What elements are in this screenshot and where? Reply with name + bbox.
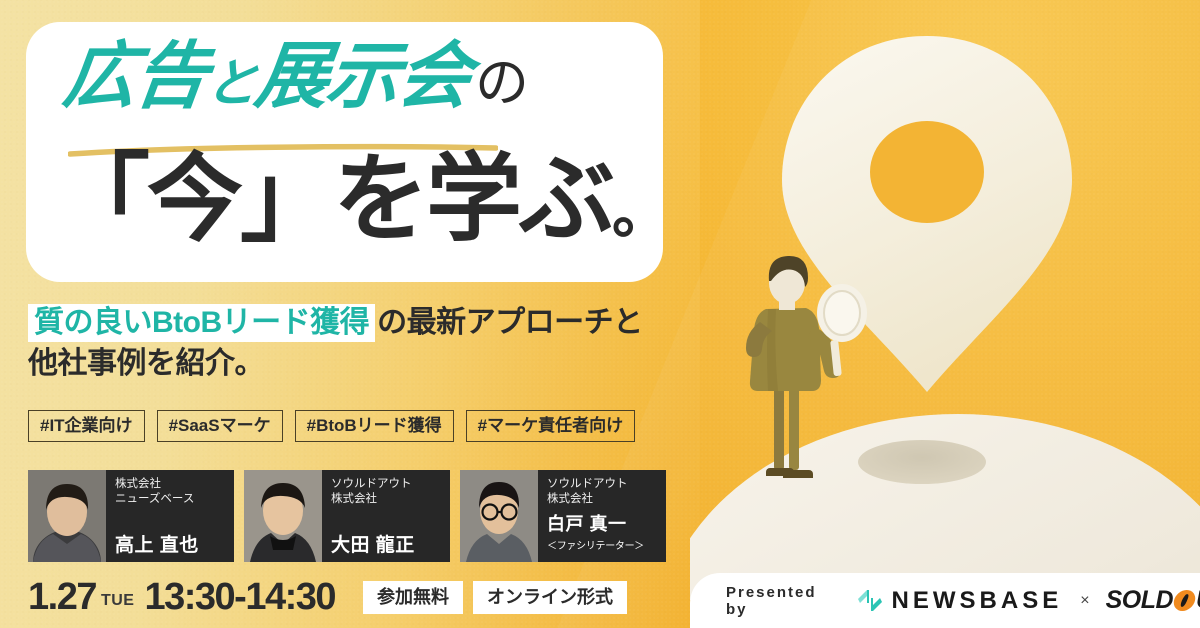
event-date: 1.27 [28, 578, 96, 616]
newsbase-logo[interactable]: NEWSBASE [855, 587, 1063, 615]
title-particle-no: の [475, 56, 529, 110]
logo-separator: × [1080, 592, 1089, 610]
speaker-info-3: ソウルドアウト 株式会社 白戸 真一 ＜ファシリテーター＞ [538, 470, 666, 562]
tag-it-companies[interactable]: #IT企業向け [28, 410, 145, 442]
speaker-org-2-line2: 株式会社 [331, 493, 377, 505]
newsbase-mark-icon [855, 587, 885, 615]
subtitle-highlight: 質の良いBtoBリード獲得 [28, 304, 375, 342]
avatar-2 [244, 470, 322, 562]
title-card: 広告 と 展示会 の 「今」を学ぶ。 [26, 22, 663, 282]
speaker-name-2: 大田 龍正 [331, 530, 442, 557]
speaker-photo-1 [28, 470, 106, 562]
soldout-logo[interactable]: SOLDUT [1106, 586, 1200, 615]
illustration-svg [690, 0, 1200, 600]
speaker-info-1: 株式会社 ニューズベース 高上 直也 [106, 470, 234, 562]
tag-btob-lead[interactable]: #BtoBリード獲得 [295, 410, 454, 442]
speaker-photo-2 [244, 470, 322, 562]
soldout-wordmark-pre: SOLD [1106, 586, 1173, 615]
badge-free-entry: 参加無料 [363, 581, 463, 614]
speaker-org-1: 株式会社 ニューズベース [115, 477, 226, 507]
speaker-org-3: ソウルドアウト 株式会社 [547, 477, 658, 507]
speaker-org-2-line1: ソウルドアウト [331, 478, 412, 490]
speaker-info-2: ソウルドアウト 株式会社 大田 龍正 [322, 470, 450, 562]
speaker-card-3: ソウルドアウト 株式会社 白戸 真一 ＜ファシリテーター＞ [460, 470, 666, 562]
presented-by-label: Presented by [726, 584, 817, 618]
speaker-org-2: ソウルドアウト 株式会社 [331, 477, 442, 507]
event-day-of-week: TUE [101, 592, 135, 610]
subtitle: 質の良いBtoBリード獲得の最新アプローチと 他社事例を紹介。 [28, 303, 688, 384]
tag-list: #IT企業向け #SaaSマーケ #BtoBリード獲得 #マーケ責任者向け [28, 410, 635, 442]
content-column: 広告 と 展示会 の 「今」を学ぶ。 質の良いBtoBリード獲得の最新アプローチ… [0, 0, 700, 628]
badge-online-format: オンライン形式 [473, 581, 627, 614]
speaker-name-1: 高上 直也 [115, 530, 226, 557]
hero-illustration [690, 0, 1200, 600]
title-main-text: 「今」を学ぶ [54, 146, 612, 253]
footer-panel: Presented by NEWSBASE × SOLDUT [690, 573, 1200, 628]
speaker-org-3-line1: ソウルドアウト [547, 478, 628, 490]
tag-marketing-managers[interactable]: #マーケ責任者向け [466, 410, 635, 442]
event-time: 13:30-14:30 [144, 578, 335, 616]
title-handwritten-exhibition: 展示会 [252, 40, 474, 113]
subtitle-rest-line1: の最新アプローチと [377, 306, 643, 339]
speaker-list: 株式会社 ニューズベース 高上 直也 ソウルドアウト 株式会社 [28, 470, 666, 562]
speaker-name-3: 白戸 真一 [547, 510, 658, 536]
title-line-1: 広告 と 展示会 の [64, 40, 529, 113]
event-badge-list: 参加無料 オンライン形式 [363, 581, 627, 614]
subtitle-line2: 他社事例を紹介。 [28, 347, 264, 380]
soldout-flame-o-icon [1172, 590, 1197, 611]
speaker-org-1-line2: ニューズベース [115, 493, 194, 505]
avatar-3 [460, 470, 538, 562]
speaker-org-3-line2: 株式会社 [547, 493, 593, 505]
speaker-card-1: 株式会社 ニューズベース 高上 直也 [28, 470, 234, 562]
title-line-2: 「今」を学ぶ。 [54, 150, 663, 251]
speaker-role-3: ＜ファシリテーター＞ [547, 537, 658, 552]
title-period: 。 [612, 180, 663, 245]
tag-saas-marketing[interactable]: #SaaSマーケ [157, 410, 283, 442]
avatar-1 [28, 470, 106, 562]
title-handwritten-ad: 広告 [60, 40, 211, 113]
speaker-photo-3 [460, 470, 538, 562]
newsbase-wordmark: NEWSBASE [892, 587, 1063, 615]
speaker-org-1-line1: 株式会社 [115, 478, 161, 490]
title-handwritten-to: と [203, 58, 259, 110]
event-datetime-bar: 1.27 TUE 13:30-14:30 参加無料 オンライン形式 [28, 578, 627, 616]
soldout-wordmark-post: UT [1196, 586, 1200, 615]
speaker-card-2: ソウルドアウト 株式会社 大田 龍正 [244, 470, 450, 562]
